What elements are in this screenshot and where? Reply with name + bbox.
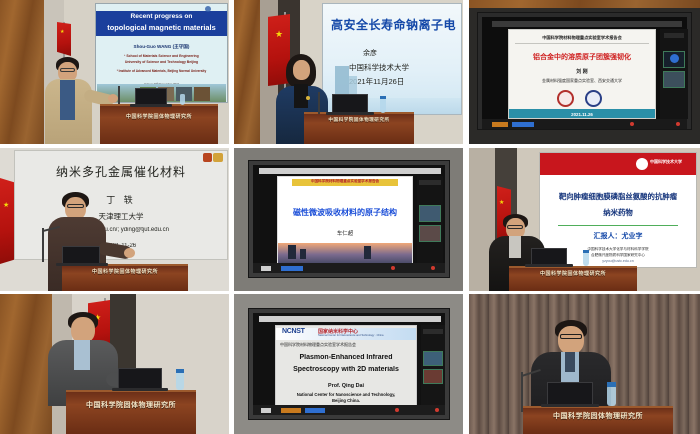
slide-title-line2: topological magnetic materials bbox=[96, 23, 227, 32]
slide-date: 2021年11月26日 bbox=[349, 76, 461, 87]
podium-label: 中国科学院固体物理研究所 bbox=[62, 268, 188, 275]
slide-presenter: 车仁超 bbox=[278, 229, 412, 237]
slide-header: 中国科学院材料物理重点实验室学术报告会 bbox=[278, 179, 412, 184]
panel-4-slide: 纳米多孔金属催化材料 丁 轶 天津理工大学 /nem.tjut.edu.cn/;… bbox=[15, 151, 227, 259]
panel-2-image: 高安全长寿命钠离子电 余彦 中国科学技术大学 2021年11月26日 ★ bbox=[234, 0, 463, 144]
slide-affiliation-1: National Center for Nanoscience and Tech… bbox=[276, 392, 416, 397]
conference-display: NCNST 国家纳米科学中心 National Center for Nanos… bbox=[248, 308, 450, 420]
slide-presenter: 刘 刚 bbox=[509, 68, 655, 75]
slide-title-line2: Spectroscopy with 2D materials bbox=[276, 366, 416, 373]
seal-logo-left-icon bbox=[557, 90, 574, 107]
slide-header: 中国科学院材料物理重点实验室学术报告会 bbox=[509, 35, 655, 41]
slide-title: 磁性微波吸收材料的原子结构 bbox=[278, 207, 412, 218]
photo-panel-2[interactable]: 高安全长寿命钠离子电 余彦 中国科学技术大学 2021年11月26日 ★ bbox=[234, 0, 463, 144]
slide-presenter-label: 汇报人：尤业字 bbox=[540, 231, 696, 241]
university-logo-icon bbox=[213, 153, 223, 162]
participant-video-tile[interactable] bbox=[423, 351, 443, 366]
photo-collage: Recent progress on topological magnetic … bbox=[0, 0, 700, 434]
slide-affiliation-3: ² Institute of Advanced Materials, Beiji… bbox=[96, 69, 227, 73]
slide-presenter: Prof. Qing Dai bbox=[276, 383, 416, 389]
podium-label: 中国科学院固体物理研究所 bbox=[100, 113, 218, 120]
panel-1-image: Recent progress on topological magnetic … bbox=[0, 0, 229, 144]
panel-3-slide: 中国科学院材料物理重点实验室学术报告会 铝合金中的溶质原子团簇强韧化 刘 刚 金… bbox=[508, 29, 656, 119]
university-logo-icon bbox=[205, 6, 211, 12]
university-logo-icon bbox=[203, 153, 212, 162]
slide-title: 纳米多孔金属催化材料 bbox=[15, 163, 227, 180]
university-logo-icon bbox=[636, 158, 648, 170]
participant-video-tile[interactable] bbox=[419, 205, 441, 222]
flag-star-icon: ★ bbox=[3, 202, 9, 209]
projection-screen: 纳米多孔金属催化材料 丁 轶 天津理工大学 /nem.tjut.edu.cn/;… bbox=[14, 150, 228, 260]
flag-star-icon: ★ bbox=[499, 200, 504, 206]
slide-affiliation-2: University of Science and Technology Bei… bbox=[96, 60, 227, 64]
slide-title-line1: 靶向肿瘤细胞膜磷脂丝氨酸的抗肿瘤 bbox=[540, 191, 696, 202]
podium-label: 中国科学院固体物理研究所 bbox=[66, 400, 196, 410]
slide-presenter: Shou-Guo WANG (王守国) bbox=[96, 44, 227, 50]
chinese-flag bbox=[0, 178, 14, 264]
slide-footer-date: 2021.11.26 bbox=[509, 112, 655, 117]
podium bbox=[66, 390, 196, 434]
panel-8-slide: NCNST 国家纳米科学中心 National Center for Nanos… bbox=[275, 325, 417, 413]
slide-title-line1: Recent progress on bbox=[96, 13, 227, 20]
slide-affiliation: 金属材料强度国家重点实验室、西安交通大学 bbox=[509, 78, 655, 84]
podium-label: 中国科学院固体物理研究所 bbox=[523, 411, 673, 421]
panel-7-image: ★ 中国科学院固体物理研究所 bbox=[0, 294, 229, 434]
podium bbox=[100, 104, 218, 144]
conference-display: 中国科学院材料物理重点实验室学术报告会 磁性微波吸收材料的原子结构 车仁超 复旦… bbox=[248, 160, 450, 278]
seal-logo-right-icon bbox=[585, 90, 602, 107]
slide-logo: NCNST bbox=[282, 328, 305, 335]
slide-org-logo-text: 中国科学技术大学 bbox=[650, 159, 682, 165]
panel-5-slide: 中国科学院材料物理重点实验室学术报告会 磁性微波吸收材料的原子结构 车仁超 复旦… bbox=[277, 176, 413, 270]
slide-header: 中国科学院材料物理重点实验室学术报告会 bbox=[280, 342, 416, 348]
panel-6-image: 中国科学技术大学 靶向肿瘤细胞膜磷脂丝氨酸的抗肿瘤 纳米药物 汇报人：尤业字 中… bbox=[469, 148, 700, 291]
panel-4-image: 纳米多孔金属催化材料 丁 轶 天津理工大学 /nem.tjut.edu.cn/;… bbox=[0, 148, 229, 291]
slide-logo-sub-en: National Center for Nanoscience and Tech… bbox=[318, 334, 383, 337]
photo-panel-9[interactable]: 中国科学院固体物理研究所 bbox=[469, 294, 700, 434]
slide-affiliation-2: Beijing China. bbox=[276, 398, 416, 403]
panel-9-image: 中国科学院固体物理研究所 bbox=[469, 294, 700, 434]
photo-panel-5[interactable]: 中国科学院材料物理重点实验室学术报告会 磁性微波吸收材料的原子结构 车仁超 复旦… bbox=[234, 148, 463, 291]
panel-3-image: 中国科学院材料物理重点实验室学术报告会 铝合金中的溶质原子团簇强韧化 刘 刚 金… bbox=[469, 0, 700, 144]
participant-video-tile[interactable] bbox=[663, 71, 685, 88]
panel-8-image: NCNST 国家纳米科学中心 National Center for Nanos… bbox=[234, 294, 463, 434]
slide-title: 高安全长寿命钠离子电 bbox=[331, 16, 461, 33]
slide-title: 铝合金中的溶质原子团簇强韧化 bbox=[509, 52, 655, 62]
slide-title-line2: 纳米药物 bbox=[540, 207, 696, 218]
photo-panel-8[interactable]: NCNST 国家纳米科学中心 National Center for Nanos… bbox=[234, 294, 463, 434]
podium-label: 中国科学院固体物理研究所 bbox=[304, 117, 414, 123]
slide-affiliation: 天津理工大学 bbox=[15, 211, 227, 222]
flag-star-icon: ★ bbox=[275, 30, 283, 39]
chinese-flag bbox=[57, 22, 71, 56]
participant-video-tile[interactable] bbox=[423, 369, 443, 384]
photo-panel-6[interactable]: 中国科学技术大学 靶向肿瘤细胞膜磷脂丝氨酸的抗肿瘤 纳米药物 汇报人：尤业字 中… bbox=[469, 148, 700, 291]
photo-panel-7[interactable]: ★ 中国科学院固体物理研究所 bbox=[0, 294, 229, 434]
conference-display: 中国科学院材料物理重点实验室学术报告会 铝合金中的溶质原子团簇强韧化 刘 刚 金… bbox=[477, 12, 692, 130]
slide-presenter: 余彦 bbox=[363, 48, 461, 58]
participant-video-tile[interactable] bbox=[419, 225, 441, 242]
photo-panel-1[interactable]: Recent progress on topological magnetic … bbox=[0, 0, 229, 144]
photo-panel-3[interactable]: 中国科学院材料物理重点实验室学术报告会 铝合金中的溶质原子团簇强韧化 刘 刚 金… bbox=[469, 0, 700, 144]
flag-star-icon: ★ bbox=[60, 30, 64, 35]
photo-panel-4[interactable]: 纳米多孔金属催化材料 丁 轶 天津理工大学 /nem.tjut.edu.cn/;… bbox=[0, 148, 229, 291]
slide-presenter: 丁 轶 bbox=[15, 193, 227, 206]
slide-affiliation-1: ¹ School of Materials Science and Engine… bbox=[96, 54, 227, 58]
podium-label: 中国科学院固体物理研究所 bbox=[509, 270, 637, 277]
panel-5-image: 中国科学院材料物理重点实验室学术报告会 磁性微波吸收材料的原子结构 车仁超 复旦… bbox=[234, 148, 463, 291]
slide-affiliation: 中国科学技术大学 bbox=[349, 62, 461, 73]
slide-title-line1: Plasmon-Enhanced Infrared bbox=[276, 354, 416, 361]
